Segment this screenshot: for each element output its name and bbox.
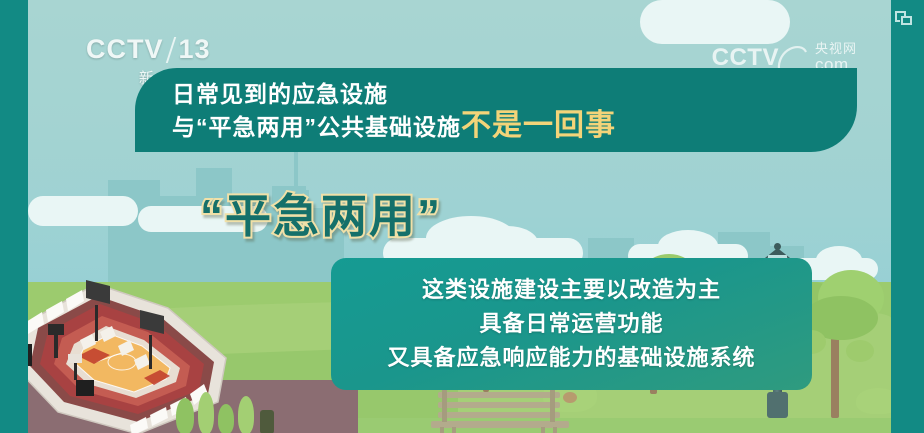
bench-leg xyxy=(541,427,545,433)
bench-backrest-slat xyxy=(438,402,560,408)
bench-leg xyxy=(553,427,557,433)
bush-stone xyxy=(563,392,577,403)
description-text-group: 这类设施建设主要以改造为主 具备日常运营功能 又具备应急响应能力的基础设施系统 xyxy=(331,258,812,390)
headline-main-text: 日常见到的应急设施 与“平急两用”公共基础设施 xyxy=(172,78,461,145)
description-line-1: 这类设施建设主要以改造为主 xyxy=(422,275,721,305)
bush-dark xyxy=(260,410,274,433)
bush xyxy=(198,392,214,433)
bush xyxy=(176,398,194,433)
channel-logo-row: CCTV 13 xyxy=(86,36,226,63)
bench-leg xyxy=(452,427,456,433)
video-player-frame: CCTV 13 新 闻 CCTV 央视网 com 日常见到的应急设施 与“平急两… xyxy=(0,0,924,433)
headline-accent-text: 不是一回事 xyxy=(461,100,616,144)
cloud xyxy=(476,226,538,260)
watermark-cctv-text: CCTV xyxy=(712,46,779,70)
bench-backrest-slat xyxy=(438,392,560,398)
channel-logo-text: CCTV xyxy=(86,36,164,63)
stadium-illustration xyxy=(28,262,268,433)
cloud xyxy=(28,196,138,226)
description-line-3: 又具备应急响应能力的基础设施系统 xyxy=(387,343,755,373)
picture-in-picture-icon[interactable] xyxy=(894,10,912,26)
lamp-base xyxy=(767,392,788,418)
headline-line-1: 日常见到的应急设施 xyxy=(172,78,461,111)
bench-leg xyxy=(440,427,444,433)
channel-number: 13 xyxy=(179,36,211,63)
logo-slash-icon xyxy=(165,37,175,63)
bush xyxy=(856,388,891,414)
bush xyxy=(238,396,254,433)
bush xyxy=(218,404,234,433)
bench-backrest-slat xyxy=(438,412,560,418)
watermark-cn-text: 央视网 xyxy=(815,42,857,55)
headline-line-2: 与“平急两用”公共基础设施 xyxy=(172,111,461,144)
bench-post xyxy=(550,388,555,422)
headline-text-group: 日常见到的应急设施 与“平急两用”公共基础设施 不是一回事 xyxy=(172,76,852,146)
description-line-2: 具备日常运营功能 xyxy=(479,309,663,339)
page-title: “平急两用” xyxy=(200,180,442,246)
bench-post xyxy=(442,388,447,422)
tree-leaf xyxy=(846,340,874,362)
cloud xyxy=(640,0,790,44)
